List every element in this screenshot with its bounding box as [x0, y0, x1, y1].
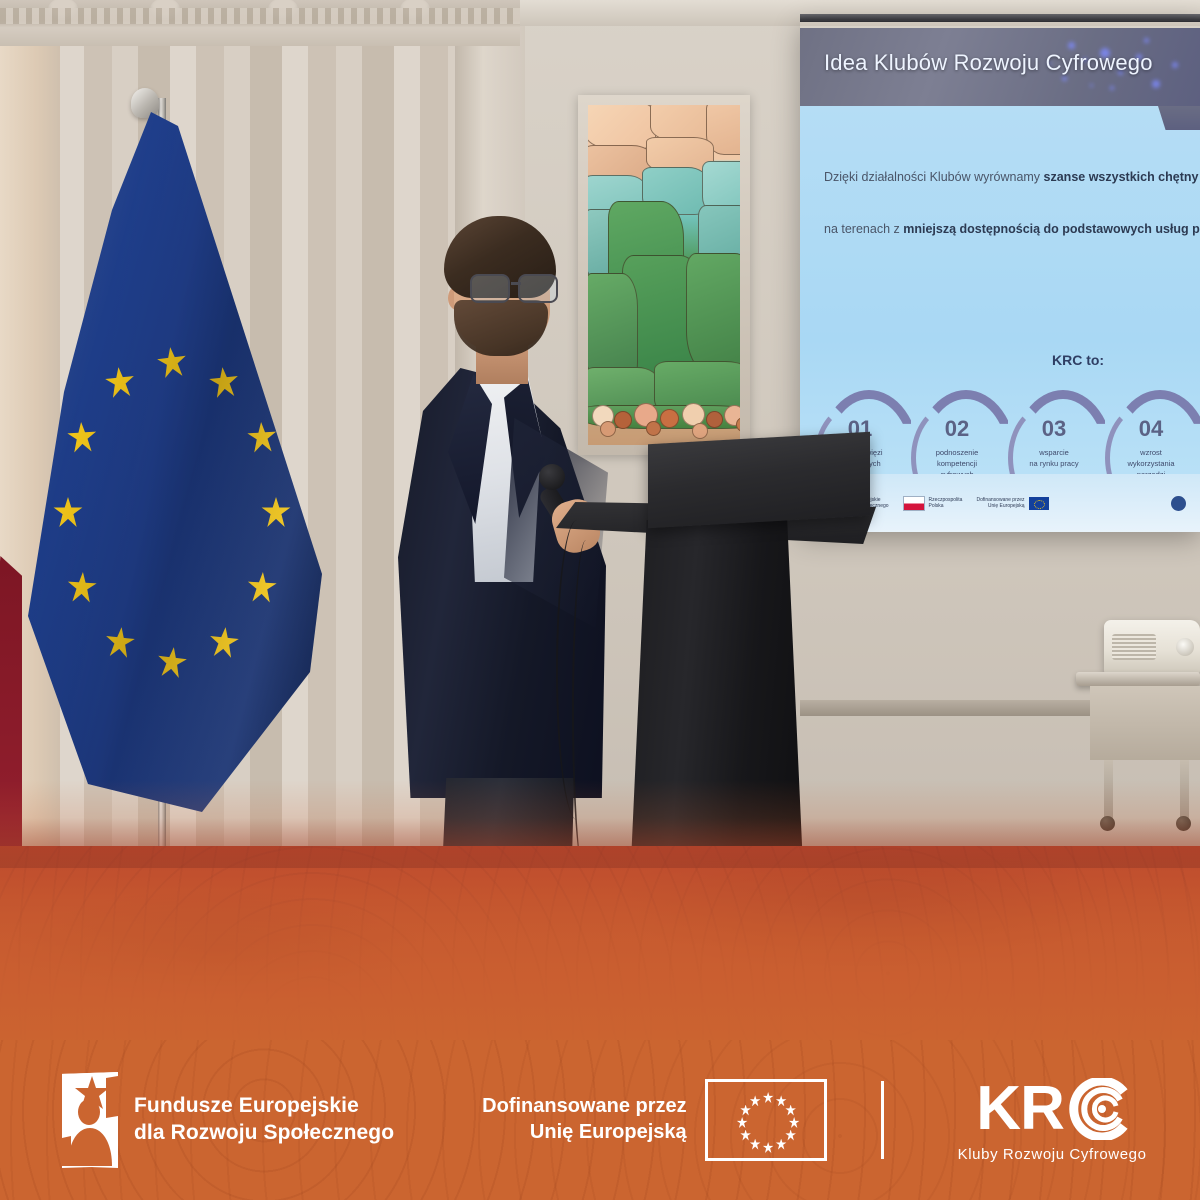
- krc-pillar-caption: wsparciena rynku pracy: [1010, 448, 1098, 470]
- slide-text-line-2: na terenach z mniejszą dostępnością do p…: [824, 222, 1200, 236]
- fe-line-1: Fundusze Europejskie: [134, 1093, 394, 1120]
- eu-flag-star: [246, 421, 278, 453]
- slide-logo-seal: [1171, 496, 1186, 511]
- eu-line-1: Dofinansowane przez: [482, 1094, 686, 1120]
- slide-logo-polska: RzeczpospolitaPolska: [903, 496, 963, 511]
- eu-banner-star: [789, 1117, 800, 1128]
- polish-flag-icon: [903, 496, 925, 511]
- fundusze-europejskie-text: Fundusze Europejskie dla Rozwoju Społecz…: [134, 1093, 394, 1147]
- krc-pillar-number: 04: [1103, 416, 1199, 442]
- krc-pillar-caption-line: podnoszenie: [913, 448, 1001, 459]
- stained-glass-flower: [660, 409, 679, 428]
- eu-flag-star: [66, 421, 98, 453]
- projector-cart-shelf: [1076, 672, 1200, 686]
- stained-glass-flower: [736, 417, 740, 432]
- eu-banner-star: [763, 1142, 774, 1153]
- speaker-glasses-left: [470, 274, 510, 303]
- fundusze-europejskie-mark-icon: [62, 1072, 118, 1168]
- krc-logo-top: KR: [976, 1078, 1128, 1140]
- speaker-glasses-right: [518, 274, 558, 303]
- bokeh-star: [1068, 42, 1075, 49]
- conference-photo: Idea Klubów Rozwoju Cyfrowego Dzięki dzi…: [0, 0, 1200, 1200]
- eu-line-2: Unię Europejską: [482, 1120, 686, 1146]
- slide-logo-polska-text: RzeczpospolitaPolska: [929, 497, 963, 510]
- speaker-beard: [454, 300, 548, 356]
- projector-cart-body: [1090, 686, 1200, 760]
- krc-spiral-c-icon: [1066, 1078, 1128, 1140]
- eu-flag-star: [155, 645, 188, 678]
- speaker-glasses-bridge: [511, 282, 521, 285]
- krc-subtitle: Kluby Rozwoju Cyfrowego: [958, 1146, 1147, 1163]
- krc-pillar-number: 02: [909, 416, 1005, 442]
- microphone-head: [539, 464, 565, 490]
- eu-flag-star: [246, 571, 278, 603]
- projector: [1104, 620, 1200, 676]
- eu-banner-star: [737, 1117, 748, 1128]
- krc-pillar-caption-line: wykorzystania: [1107, 459, 1195, 470]
- eu-flag-outline-icon: [705, 1079, 827, 1161]
- krc-pillar-caption-line: na rynku pracy: [1010, 459, 1098, 470]
- stained-glass-flower: [706, 411, 723, 428]
- bokeh-star: [1062, 76, 1067, 81]
- slide-text-line-1: Dzięki działalności Klubów wyrównamy sza…: [824, 170, 1198, 184]
- eu-banner-star: [785, 1105, 796, 1116]
- eu-flag-star: [53, 497, 83, 527]
- eu-flag-star: [261, 497, 291, 527]
- banner-divider: [881, 1081, 884, 1159]
- krc-pillar-number: 03: [1006, 416, 1102, 442]
- bokeh-star: [1144, 38, 1149, 43]
- flag-pole-finial: [131, 88, 159, 118]
- eu-banner-star: [763, 1092, 774, 1103]
- eu-banner-star: [740, 1105, 751, 1116]
- bokeh-star: [1090, 84, 1093, 87]
- slide-logo-ue-text: Dofinansowane przezUnię Europejską: [976, 497, 1024, 510]
- eu-funding-text: Dofinansowane przez Unię Europejską: [482, 1094, 686, 1145]
- eu-banner-star: [750, 1095, 761, 1106]
- projector-lens: [1176, 638, 1194, 656]
- eu-funding-logo: Dofinansowane przez Unię Europejską: [482, 1079, 826, 1161]
- eu-banner-star: [776, 1095, 787, 1106]
- eu-banner-star: [740, 1130, 751, 1141]
- krc-letters: KR: [976, 1078, 1064, 1140]
- krc-pillar-caption-line: wzrost: [1107, 448, 1195, 459]
- orange-gradient-overlay: [0, 780, 1200, 1060]
- slide-notch: [1158, 106, 1200, 130]
- eu-flag-star: [207, 625, 240, 658]
- slide-header-band: Idea Klubów Rozwoju Cyfrowego: [800, 28, 1200, 106]
- eu-flag-star: [103, 625, 136, 658]
- krc-to-label: KRC to:: [1052, 352, 1104, 368]
- eu-banner-star: [785, 1130, 796, 1141]
- projector-vent: [1112, 634, 1156, 660]
- cornice-molding: [0, 0, 520, 46]
- eu-flag-star: [207, 366, 240, 399]
- krc-pillar-caption-line: wsparcie: [1010, 448, 1098, 459]
- slide-logo-ue: Dofinansowane przezUnię Europejską: [976, 497, 1048, 510]
- slide-title: Idea Klubów Rozwoju Cyfrowego: [824, 50, 1153, 76]
- eu-banner-star: [750, 1139, 761, 1150]
- stained-glass-piece: [686, 253, 740, 375]
- bokeh-star: [1152, 80, 1160, 88]
- eu-flag-icon: [1029, 497, 1049, 510]
- eu-flag-star: [155, 345, 188, 378]
- stained-glass-flower: [692, 423, 708, 439]
- krc-logo: KR Kluby Rozwoju Cyfrowego: [958, 1078, 1147, 1163]
- fe-line-2: dla Rozwoju Społecznego: [134, 1120, 394, 1147]
- stained-glass-flower: [646, 421, 661, 436]
- lectern-top: [648, 432, 870, 528]
- krc-pillar-caption-line: kompetencji: [913, 459, 1001, 470]
- eu-flag-star: [103, 366, 136, 399]
- eu-flag-star: [66, 571, 98, 603]
- bokeh-star: [1172, 62, 1178, 68]
- eu-banner-star: [776, 1139, 787, 1150]
- bokeh-star: [1110, 86, 1114, 90]
- fundusze-europejskie-logo: Fundusze Europejskie dla Rozwoju Społecz…: [62, 1072, 394, 1168]
- seal-icon: [1171, 496, 1186, 511]
- footer-banner-content: Fundusze Europejskie dla Rozwoju Społecz…: [0, 1040, 1200, 1200]
